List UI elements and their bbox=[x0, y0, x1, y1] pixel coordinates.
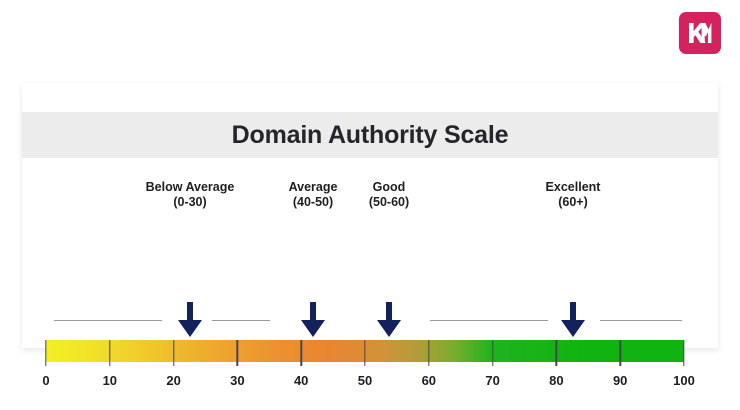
axis-tick bbox=[45, 340, 46, 366]
connector-rule bbox=[212, 320, 270, 321]
axis-tick bbox=[300, 340, 301, 366]
axis-tick-label: 10 bbox=[103, 373, 117, 388]
marker-name: Excellent bbox=[546, 180, 601, 195]
axis-tick-label: 70 bbox=[485, 373, 499, 388]
pointer-arrow-average bbox=[300, 302, 326, 338]
connector-rule bbox=[430, 320, 548, 321]
axis-tick bbox=[556, 340, 557, 366]
axis-tick-label: 40 bbox=[294, 373, 308, 388]
km-logo bbox=[679, 12, 721, 54]
marker-name: Average bbox=[289, 180, 338, 195]
card-header: Domain Authority Scale bbox=[22, 112, 718, 158]
marker-label-good: Good (50-60) bbox=[369, 180, 409, 210]
axis-tick-label: 20 bbox=[166, 373, 180, 388]
axis-tick bbox=[173, 340, 174, 366]
axis-tick bbox=[109, 340, 110, 366]
axis-tick bbox=[619, 340, 620, 366]
axis-tick-label: 50 bbox=[358, 373, 372, 388]
marker-range: (60+) bbox=[546, 195, 601, 210]
marker-range: (50-60) bbox=[369, 195, 409, 210]
marker-label-below-average: Below Average (0-30) bbox=[146, 180, 235, 210]
axis-tick-label: 100 bbox=[673, 373, 695, 388]
axis-tick-label: 30 bbox=[230, 373, 244, 388]
marker-name: Good bbox=[369, 180, 409, 195]
axis-tick-label: 0 bbox=[42, 373, 49, 388]
axis-tick-label: 90 bbox=[613, 373, 627, 388]
connector-rule bbox=[54, 320, 162, 321]
marker-range: (40-50) bbox=[289, 195, 338, 210]
km-monogram-icon bbox=[687, 20, 713, 46]
arrow-down-icon bbox=[376, 302, 402, 338]
axis-tick-label: 60 bbox=[422, 373, 436, 388]
arrow-down-icon bbox=[177, 302, 203, 338]
pointer-arrow-good bbox=[376, 302, 402, 338]
connector-rule bbox=[600, 320, 682, 321]
arrow-down-icon bbox=[300, 302, 326, 338]
pointer-arrow-below-average bbox=[177, 302, 203, 338]
axis-tick bbox=[237, 340, 238, 366]
marker-name: Below Average bbox=[146, 180, 235, 195]
axis-tick bbox=[428, 340, 429, 366]
arrow-down-icon bbox=[560, 302, 586, 338]
axis-tick bbox=[492, 340, 493, 366]
page-title: Domain Authority Scale bbox=[232, 121, 509, 150]
pointer-arrow-excellent bbox=[560, 302, 586, 338]
marker-label-excellent: Excellent (60+) bbox=[546, 180, 601, 210]
marker-label-average: Average (40-50) bbox=[289, 180, 338, 210]
axis-tick bbox=[364, 340, 365, 366]
axis-tick bbox=[683, 340, 684, 366]
marker-range: (0-30) bbox=[146, 195, 235, 210]
axis-tick-label: 80 bbox=[549, 373, 563, 388]
scale-chart: Below Average (0-30) Average (40-50) Goo… bbox=[22, 158, 718, 348]
domain-authority-card: Domain Authority Scale Below Average (0-… bbox=[22, 83, 718, 348]
